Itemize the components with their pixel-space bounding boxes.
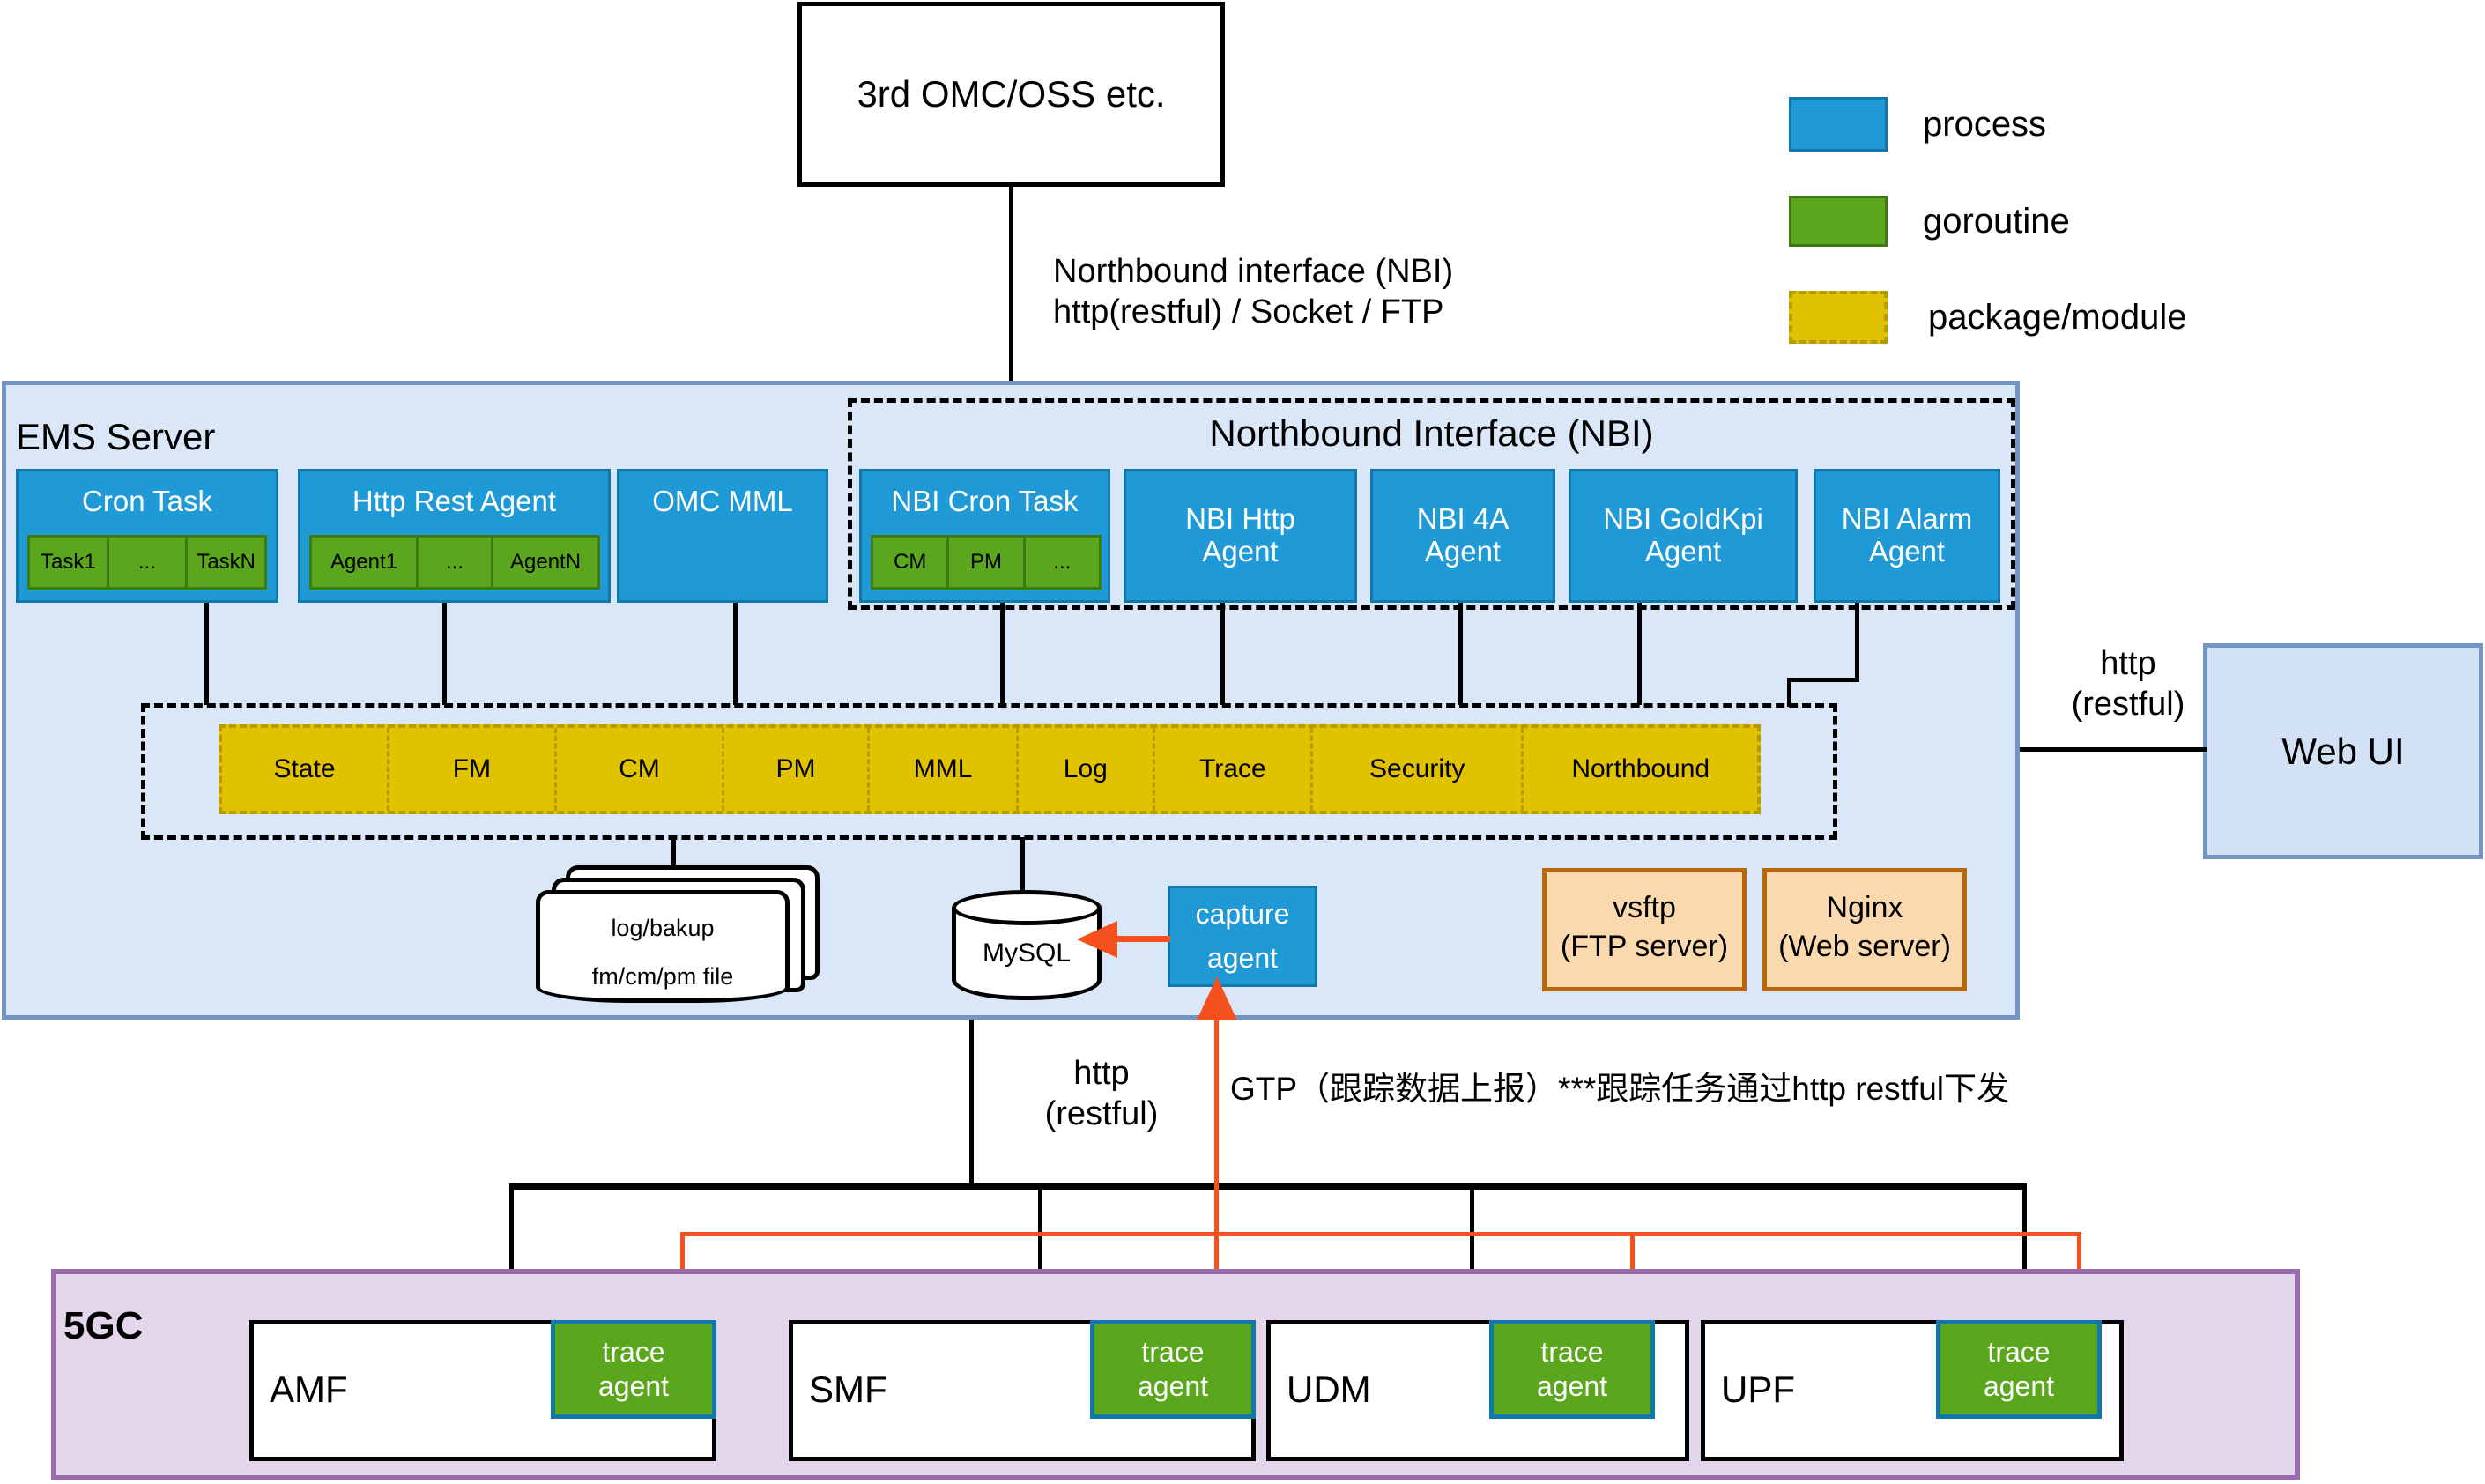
goroutine: Task1 xyxy=(27,535,107,590)
process-nbi-4a-agent[interactable]: NBI 4A Agent xyxy=(1370,469,1555,603)
module-security[interactable]: Security xyxy=(1313,728,1524,811)
process-http-rest-agent-label: Http Rest Agent xyxy=(300,479,608,524)
trace-agent-smf-line1: trace xyxy=(1138,1335,1208,1369)
network-function-udm-label: UDM xyxy=(1287,1367,1371,1412)
ems-server-title: EMS Server xyxy=(16,414,215,459)
file-store-stack: log/bakup fm/cm/pm file xyxy=(536,865,835,998)
goroutine: Agent1 xyxy=(309,535,416,590)
webui-link-label: http (restful) xyxy=(2049,643,2207,725)
legend-swatch-goroutine xyxy=(1789,196,1888,247)
connector-nbi-4a-agent xyxy=(1458,603,1463,705)
goroutine: CM xyxy=(871,535,946,590)
connector-ems-to-webui xyxy=(2020,747,2207,752)
process-nbi-goldkpi-agent[interactable]: NBI GoldKpi Agent xyxy=(1569,469,1798,603)
web-ui-box[interactable]: Web UI xyxy=(2203,643,2483,859)
web-ui-label: Web UI xyxy=(2281,729,2404,774)
process-http-rest-agent[interactable]: Http Rest Agent Agent1 ... AgentN xyxy=(298,469,611,603)
gtp-bus-line xyxy=(680,1232,2081,1236)
nbi-trunk-line xyxy=(1009,187,1013,398)
trace-agent-upf-line1: trace xyxy=(1984,1335,2054,1369)
process-nbi-cron-task[interactable]: NBI Cron Task CM PM ... xyxy=(859,469,1110,603)
process-nbi-alarm-agent-label: NBI Alarm Agent xyxy=(1816,471,1998,600)
process-nbi-alarm-agent[interactable]: NBI Alarm Agent xyxy=(1814,469,2000,603)
gtp-uplink-arrowhead xyxy=(1195,976,1239,1026)
goroutine: ... xyxy=(416,535,491,590)
connector-http-rest-agent xyxy=(442,603,447,705)
module-northbound[interactable]: Northbound xyxy=(1524,728,1757,811)
network-function-upf-label: UPF xyxy=(1721,1367,1795,1412)
module-mml[interactable]: MML xyxy=(870,728,1019,811)
trace-agent-amf-line2: agent xyxy=(598,1369,669,1404)
trace-agent-udm-line1: trace xyxy=(1537,1335,1607,1369)
module-cm[interactable]: CM xyxy=(557,728,724,811)
arrow-capture-to-mysql-head xyxy=(1077,918,1119,961)
connector-omc-mml xyxy=(733,603,738,705)
goroutine: ... xyxy=(1023,535,1102,590)
module-bar: State FM CM PM MML Log Trace Security No… xyxy=(219,724,1761,814)
legend-label-process: process xyxy=(1923,97,2046,152)
capture-agent-line2: agent xyxy=(1170,936,1315,982)
trace-agent-amf[interactable]: trace agent xyxy=(551,1320,716,1419)
module-trace[interactable]: Trace xyxy=(1155,728,1313,811)
process-cron-task[interactable]: Cron Task Task1 ... TaskN xyxy=(16,469,278,603)
trace-agent-smf[interactable]: trace agent xyxy=(1090,1320,1256,1419)
connector-nbi-goldkpi-agent xyxy=(1637,603,1642,705)
omc-oss-label: 3rd OMC/OSS etc. xyxy=(857,71,1165,116)
connector-nbi-alarm-agent-seg2 xyxy=(1787,678,1859,682)
process-nbi-cron-task-label: NBI Cron Task xyxy=(862,479,1108,524)
network-function-amf-label: AMF xyxy=(270,1367,348,1412)
legend-label-package: package/module xyxy=(1928,291,2187,344)
nbi-group-title: Northbound Interface (NBI) xyxy=(848,407,2015,460)
nbi-cron-task-goroutines: CM PM ... xyxy=(871,535,1102,590)
module-log[interactable]: Log xyxy=(1019,728,1155,811)
trace-agent-upf[interactable]: trace agent xyxy=(1936,1320,2102,1419)
connector-nbi-http-agent xyxy=(1220,603,1225,705)
south-http-line1: http xyxy=(1013,1053,1190,1094)
process-nbi-http-agent-label: NBI Http Agent xyxy=(1126,471,1354,600)
server-nginx-line1: Nginx xyxy=(1767,888,1962,929)
diagram-canvas: 3rd OMC/OSS etc. Northbound interface (N… xyxy=(0,0,2485,1484)
goroutine: AgentN xyxy=(491,535,600,590)
connector-nbi-alarm-agent-seg1 xyxy=(1855,603,1859,682)
server-vsftp-line2: (FTP server) xyxy=(1547,927,1742,968)
nbi-link-label: Northbound interface (NBI) http(restful)… xyxy=(1053,251,1453,333)
module-pm[interactable]: PM xyxy=(724,728,870,811)
trace-agent-smf-line2: agent xyxy=(1138,1369,1208,1404)
network-function-smf-label: SMF xyxy=(809,1367,887,1412)
nbi-link-line1: Northbound interface (NBI) xyxy=(1053,251,1453,292)
process-nbi-4a-agent-label: NBI 4A Agent xyxy=(1373,471,1553,600)
process-omc-mml-label: OMC MML xyxy=(619,479,826,524)
module-fm[interactable]: FM xyxy=(389,728,557,811)
core-5gc-title: 5GC xyxy=(63,1302,143,1350)
south-trunk-line xyxy=(969,1020,974,1187)
legend-swatch-process xyxy=(1789,97,1888,152)
nbi-link-line2: http(restful) / Socket / FTP xyxy=(1053,292,1453,332)
south-bus-line xyxy=(509,1183,2027,1190)
module-state[interactable]: State xyxy=(222,728,389,811)
trace-agent-udm[interactable]: trace agent xyxy=(1489,1320,1655,1419)
webui-link-line1: http xyxy=(2049,643,2207,684)
file-store-line1: log/bakup xyxy=(536,914,790,943)
legend-label-goroutine: goroutine xyxy=(1923,196,2070,247)
cron-task-goroutines: Task1 ... TaskN xyxy=(27,535,267,590)
process-omc-mml[interactable]: OMC MML xyxy=(617,469,828,603)
south-http-line2: (restful) xyxy=(1013,1094,1190,1134)
server-vsftp-line1: vsftp xyxy=(1547,888,1742,929)
trace-agent-upf-line2: agent xyxy=(1984,1369,2054,1404)
server-vsftp[interactable]: vsftp (FTP server) xyxy=(1542,868,1747,991)
server-nginx[interactable]: Nginx (Web server) xyxy=(1762,868,1967,991)
connector-trace-to-mysql xyxy=(1020,837,1025,892)
trace-agent-udm-line2: agent xyxy=(1537,1369,1607,1404)
gtp-uplink-line xyxy=(1214,1009,1219,1234)
connector-nbi-cron-task xyxy=(1000,603,1005,705)
http-rest-agent-goroutines: Agent1 ... AgentN xyxy=(309,535,600,590)
webui-link-line2: (restful) xyxy=(2049,684,2207,724)
process-nbi-goldkpi-agent-label: NBI GoldKpi Agent xyxy=(1571,471,1795,600)
gtp-note-label: GTP（跟踪数据上报）***跟踪任务通过http restful下发 xyxy=(1230,1069,2009,1109)
goroutine: TaskN xyxy=(185,535,267,590)
process-capture-agent[interactable]: capture agent xyxy=(1168,886,1317,987)
process-nbi-http-agent[interactable]: NBI Http Agent xyxy=(1124,469,1357,603)
legend-swatch-package xyxy=(1789,291,1888,344)
legend: process goroutine package/module xyxy=(1789,88,2335,335)
capture-agent-line1: capture xyxy=(1170,892,1315,938)
connector-cron-task xyxy=(204,603,209,705)
omc-oss-box: 3rd OMC/OSS etc. xyxy=(797,2,1225,187)
goroutine: ... xyxy=(107,535,186,590)
process-cron-task-label: Cron Task xyxy=(19,479,276,524)
arrow-capture-to-mysql-shaft xyxy=(1112,936,1170,942)
server-nginx-line2: (Web server) xyxy=(1767,927,1962,968)
trace-agent-amf-line1: trace xyxy=(598,1335,669,1369)
file-store-line2: fm/cm/pm file xyxy=(536,962,790,991)
goroutine: PM xyxy=(946,535,1022,590)
south-http-label: http (restful) xyxy=(1013,1053,1190,1135)
